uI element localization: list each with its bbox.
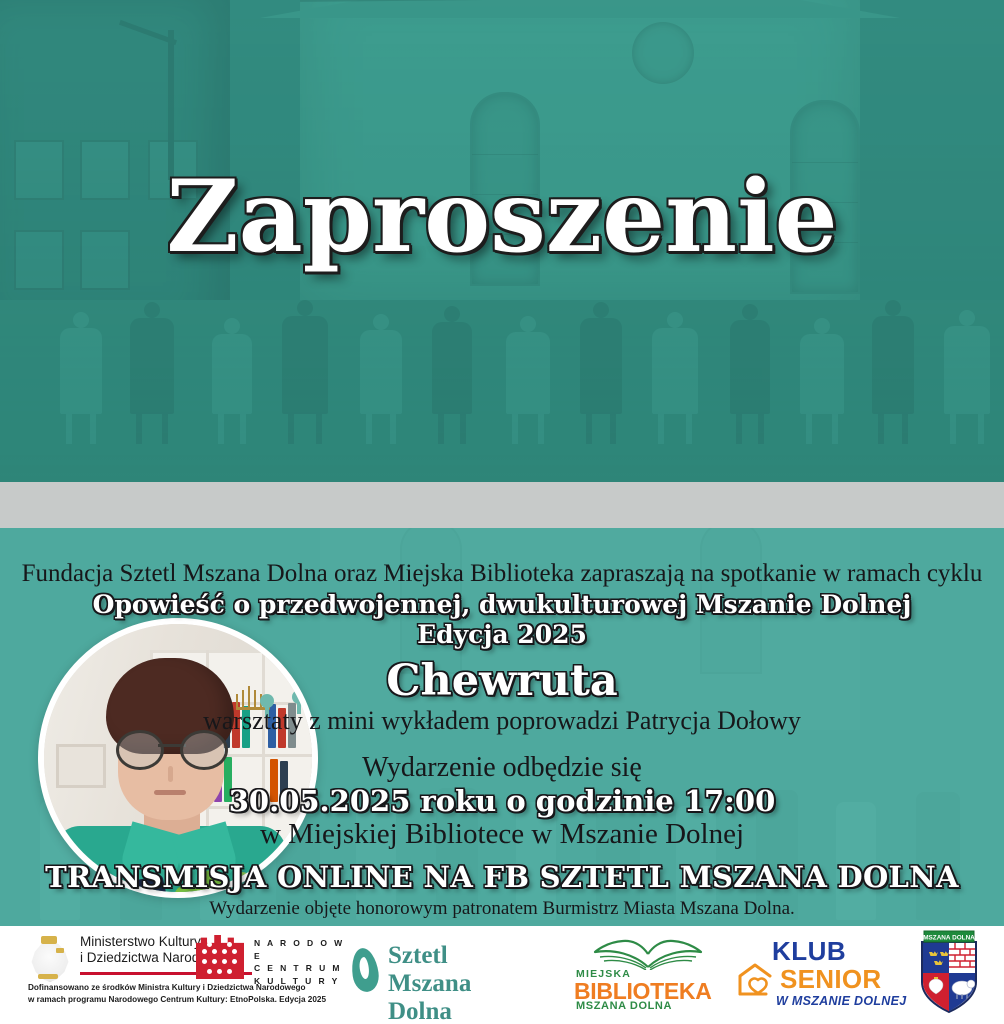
klub-senior-line-3: W MSZANIE DOLNEJ (776, 994, 907, 1008)
polish-eagle-icon (26, 934, 72, 982)
herb-banner-text: MSZANA DOLNA (923, 934, 975, 941)
invitation-poster: Zaproszenie (0, 0, 1004, 1024)
event-subtitle: warsztaty z mini wykładem poprowadzi Pat… (0, 706, 1004, 736)
live-stream-note: TRANSMISJA ONLINE NA FB SZTETL MSZANA DO… (0, 860, 1004, 894)
logo-mszana-dolna-coat-of-arms: MSZANA DOLNA (918, 930, 980, 1014)
sztetl-line-1: Sztetl (388, 942, 532, 970)
nck-dots (196, 935, 244, 979)
logo-klub-senior: KLUB SENIOR W MSZANIE DOLNEJ (736, 936, 916, 1006)
logo-sztetl-mszana-dolna: Sztetl Mszana Dolna (352, 940, 532, 1002)
sztetl-line-2: Mszana Dolna (388, 970, 532, 1024)
footer-logos: Ministerstwo Kultury i Dziedzictwa Narod… (0, 926, 1004, 1024)
logo-miejska-biblioteka: MIEJSKA BIBLIOTEKA MSZANA DOLNA (574, 934, 714, 1006)
edition-label: Edycja 2025 (0, 620, 1004, 649)
hero-banner: Zaproszenie (0, 0, 1004, 482)
divider-band (0, 482, 1004, 528)
cycle-title: Opowieść o przedwojennej, dwukulturowej … (0, 590, 1004, 619)
page-title: Zaproszenie (0, 168, 1004, 267)
event-place: w Miejskiej Bibliotece w Mszanie Dolnej (0, 818, 1004, 851)
open-book-icon (590, 934, 706, 970)
event-title: Chewruta (0, 656, 1004, 706)
nck-line-2: C E N T R U M (254, 962, 346, 975)
when-label: Wydarzenie odbędzie się (0, 752, 1004, 784)
house-heart-icon (736, 962, 778, 996)
logo-narodowe-centrum-kultury: N A R O D O W E C E N T R U M K U L T U … (196, 932, 346, 984)
patronage-note: Wydarzenie objęte honorowym patronatem B… (0, 898, 1004, 920)
klub-senior-line-2: SENIOR (780, 964, 881, 995)
event-datetime: 30.05.2025 roku o godzinie 17:00 (0, 784, 1004, 818)
klub-senior-line-1: KLUB (772, 936, 846, 967)
biblioteka-line-3: MSZANA DOLNA (576, 1000, 672, 1012)
funding-line-1: Dofinansowano ze środków Ministra Kultur… (28, 982, 358, 994)
funding-statement: Dofinansowano ze środków Ministra Kultur… (28, 982, 358, 1006)
invitation-text-block: Fundacja Sztetl Mszana Dolna oraz Miejsk… (0, 528, 1004, 926)
flame-icon (349, 946, 381, 993)
funding-line-2: w ramach programu Narodowego Centrum Kul… (28, 994, 358, 1006)
intro-line: Fundacja Sztetl Mszana Dolna oraz Miejsk… (0, 560, 1004, 588)
nck-line-1: N A R O D O W E (254, 937, 346, 962)
